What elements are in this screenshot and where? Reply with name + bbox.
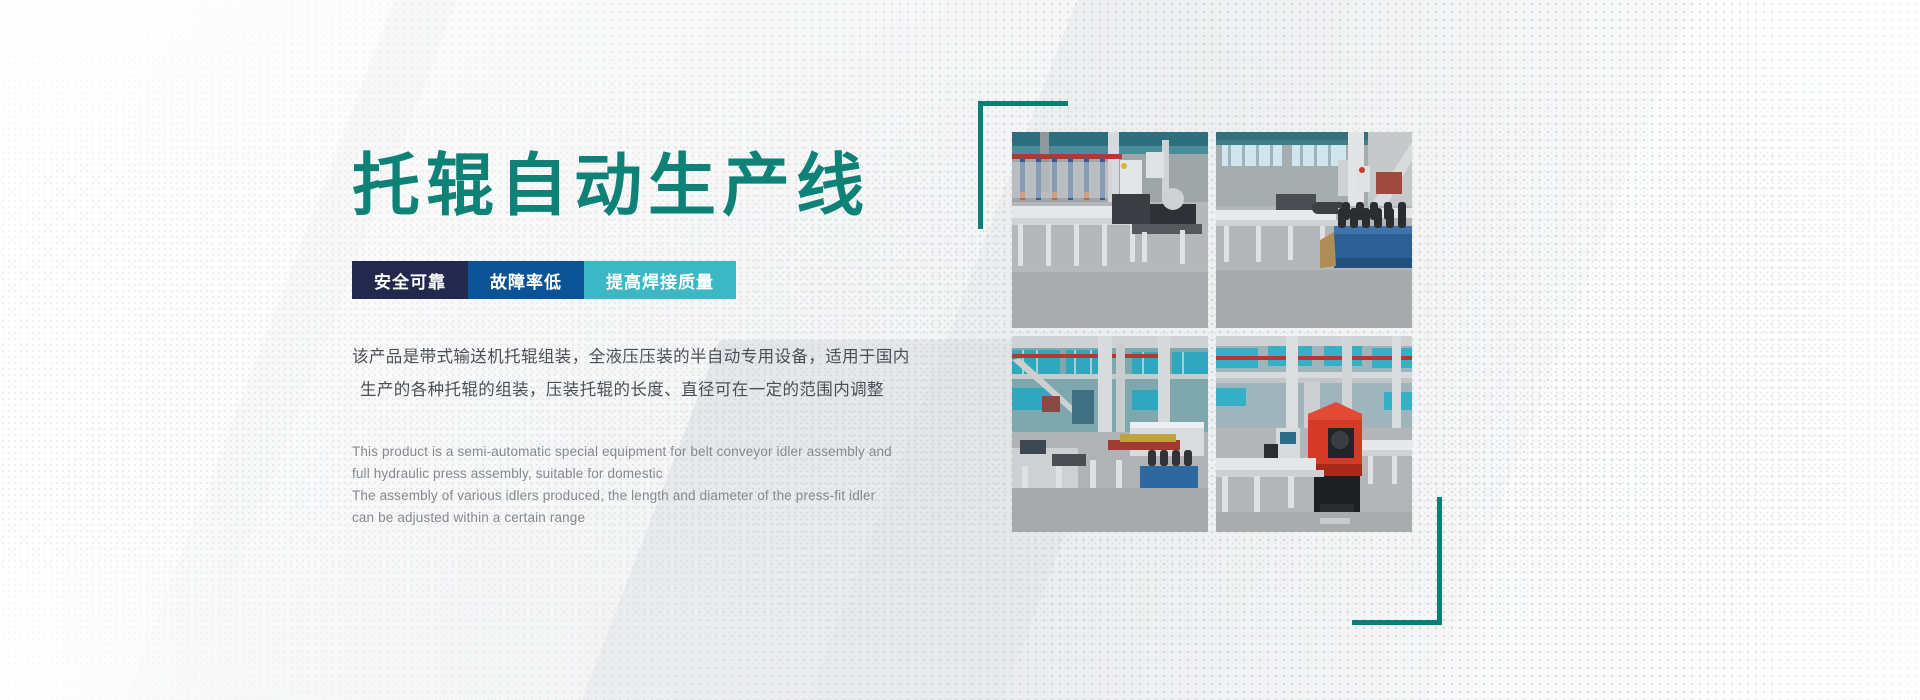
description-english-line-3: The assembly of various idlers produced,…	[352, 485, 972, 507]
factory-photo-red-press-machine[interactable]	[1216, 336, 1412, 532]
product-banner: 托辊自动生产线 安全可靠 故障率低 提高焊接质量 该产品是带式输送机托辊组装，全…	[0, 0, 1920, 700]
description-english-line-1: This product is a semi-automatic special…	[352, 441, 972, 463]
factory-photo-workbench-rollers[interactable]	[1216, 132, 1412, 328]
factory-photo-assembly-hall[interactable]	[1012, 336, 1208, 532]
description-chinese: 该产品是带式输送机托辊组装，全液压压装的半自动专用设备，适用于国内 生产的各种托…	[352, 341, 972, 407]
badge-low-failure-rate[interactable]: 故障率低	[468, 261, 584, 299]
feature-badge-group: 安全可靠 故障率低 提高焊接质量	[352, 261, 736, 299]
description-english: This product is a semi-automatic special…	[352, 441, 972, 528]
badge-improved-weld-quality[interactable]: 提高焊接质量	[584, 261, 736, 299]
factory-photo-roller-conveyor-line[interactable]	[1012, 132, 1208, 328]
banner-text-column: 托辊自动生产线 安全可靠 故障率低 提高焊接质量 该产品是带式输送机托辊组装，全…	[352, 150, 972, 529]
background-diagonal-right	[1368, 0, 1920, 700]
page-title: 托辊自动生产线	[352, 150, 972, 223]
description-chinese-line-1: 该产品是带式输送机托辊组装，全液压压装的半自动专用设备，适用于国内	[352, 341, 972, 374]
description-chinese-line-2: 生产的各种托辊的组装，压装托辊的长度、直径可在一定的范围内调整	[352, 374, 972, 407]
badge-safe-reliable[interactable]: 安全可靠	[352, 261, 468, 299]
description-english-line-4: can be adjusted within a certain range	[352, 507, 972, 529]
description-english-line-2: full hydraulic press assembly, suitable …	[352, 463, 972, 485]
product-photo-gallery	[1012, 132, 1412, 536]
